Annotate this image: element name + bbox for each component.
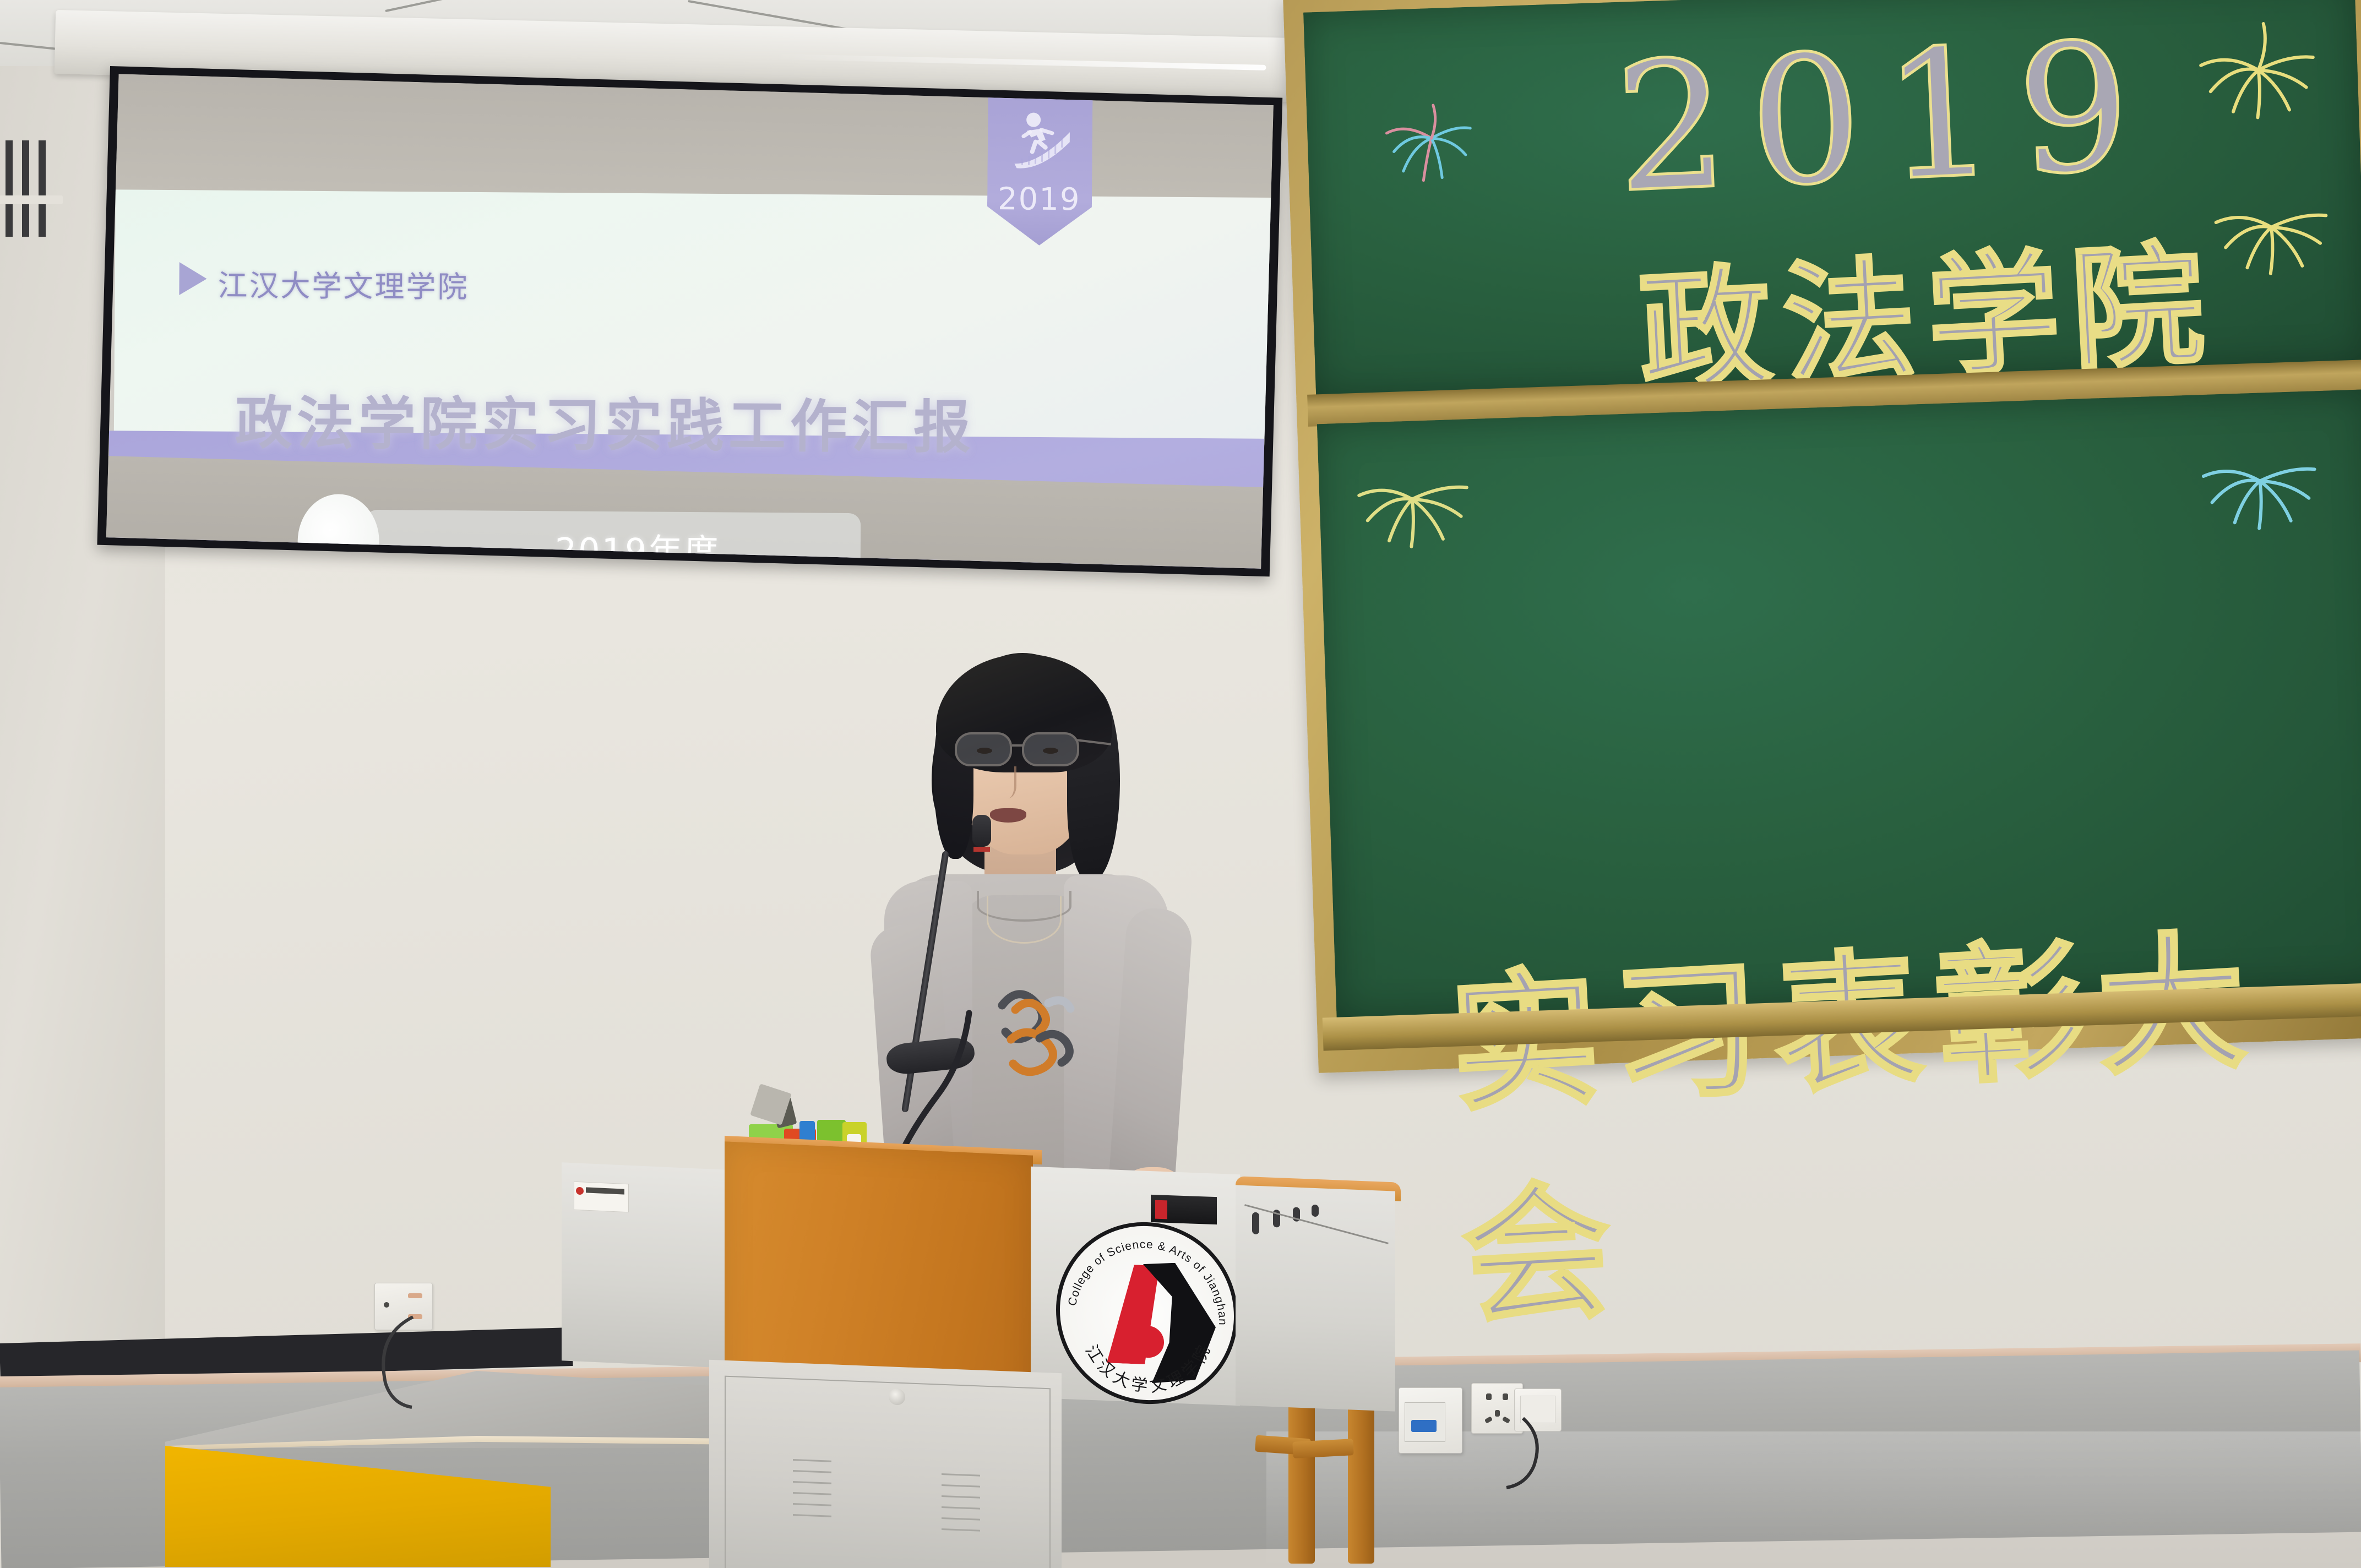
slide-title: 政法学院实习实践工作汇报 <box>235 376 1172 465</box>
slide-organization: 江汉大学文理学院 <box>217 261 469 306</box>
necklace <box>987 896 1062 944</box>
switch-cable <box>1487 1415 1575 1492</box>
emblem-arc-text: College of Science & Arts of Jianghan Un… <box>1056 1219 1238 1407</box>
person-climbing-bar-chart-icon <box>1004 111 1076 177</box>
nose <box>995 766 1016 798</box>
mouth <box>990 808 1026 823</box>
air-vent <box>2 140 55 237</box>
projector-screen: 江汉大学文理学院 政法学院实习实践工作汇报 <box>97 66 1282 576</box>
firework-burst-icon <box>2201 160 2343 302</box>
chalk-text-event: 实习表彰大会 <box>1445 874 2361 1353</box>
slide-badge-year: 2019 <box>998 181 1081 217</box>
lectern-nameplate-logo-icon <box>1155 1200 1167 1219</box>
firework-burst-icon <box>1366 77 1497 207</box>
lectern-right-wing <box>1236 1185 1395 1411</box>
slide-bullet-arrow-icon <box>179 262 206 295</box>
outlet-cable <box>352 1310 474 1409</box>
svg-text:江汉大学文理学院: 江汉大学文理学院 <box>1081 1335 1216 1399</box>
lectern: College of Science & Arts of Jianghan Un… <box>562 1140 1410 1568</box>
microphone-band <box>973 847 990 852</box>
lectern-sticker-label <box>574 1182 629 1213</box>
lectern-cabinet-door[interactable] <box>725 1376 1051 1568</box>
microphone-head <box>972 815 991 847</box>
university-emblem: College of Science & Arts of Jianghan Un… <box>1056 1219 1238 1407</box>
firework-burst-icon <box>2187 412 2335 560</box>
presentation-slide: 江汉大学文理学院 政法学院实习实践工作汇报 <box>106 74 1274 568</box>
lectern-sticker-logo-icon <box>576 1187 584 1195</box>
classroom-scene: 江汉大学文理学院 政法学院实习实践工作汇报 <box>0 0 2361 1568</box>
firework-burst-icon <box>1345 435 1482 572</box>
svg-text:College of Science & Arts of J: College of Science & Arts of Jianghan Un… <box>1056 1219 1229 1326</box>
chalkboard-lower-panel: 实习表彰大会 <box>1317 389 2361 1019</box>
chalkboard-upper-panel: 2019 政法学院 <box>1303 0 2361 398</box>
chalkboard-frame: 2019 政法学院 <box>1283 0 2361 1073</box>
chalk-text-year: 2019 <box>1611 4 2156 232</box>
table-front-panel <box>165 1446 551 1567</box>
lock-icon[interactable] <box>889 1388 905 1405</box>
chalkboard: 2019 政法学院 <box>1283 0 2361 1079</box>
glasses-icon <box>951 732 1099 769</box>
firework-burst-icon <box>2185 1 2332 148</box>
